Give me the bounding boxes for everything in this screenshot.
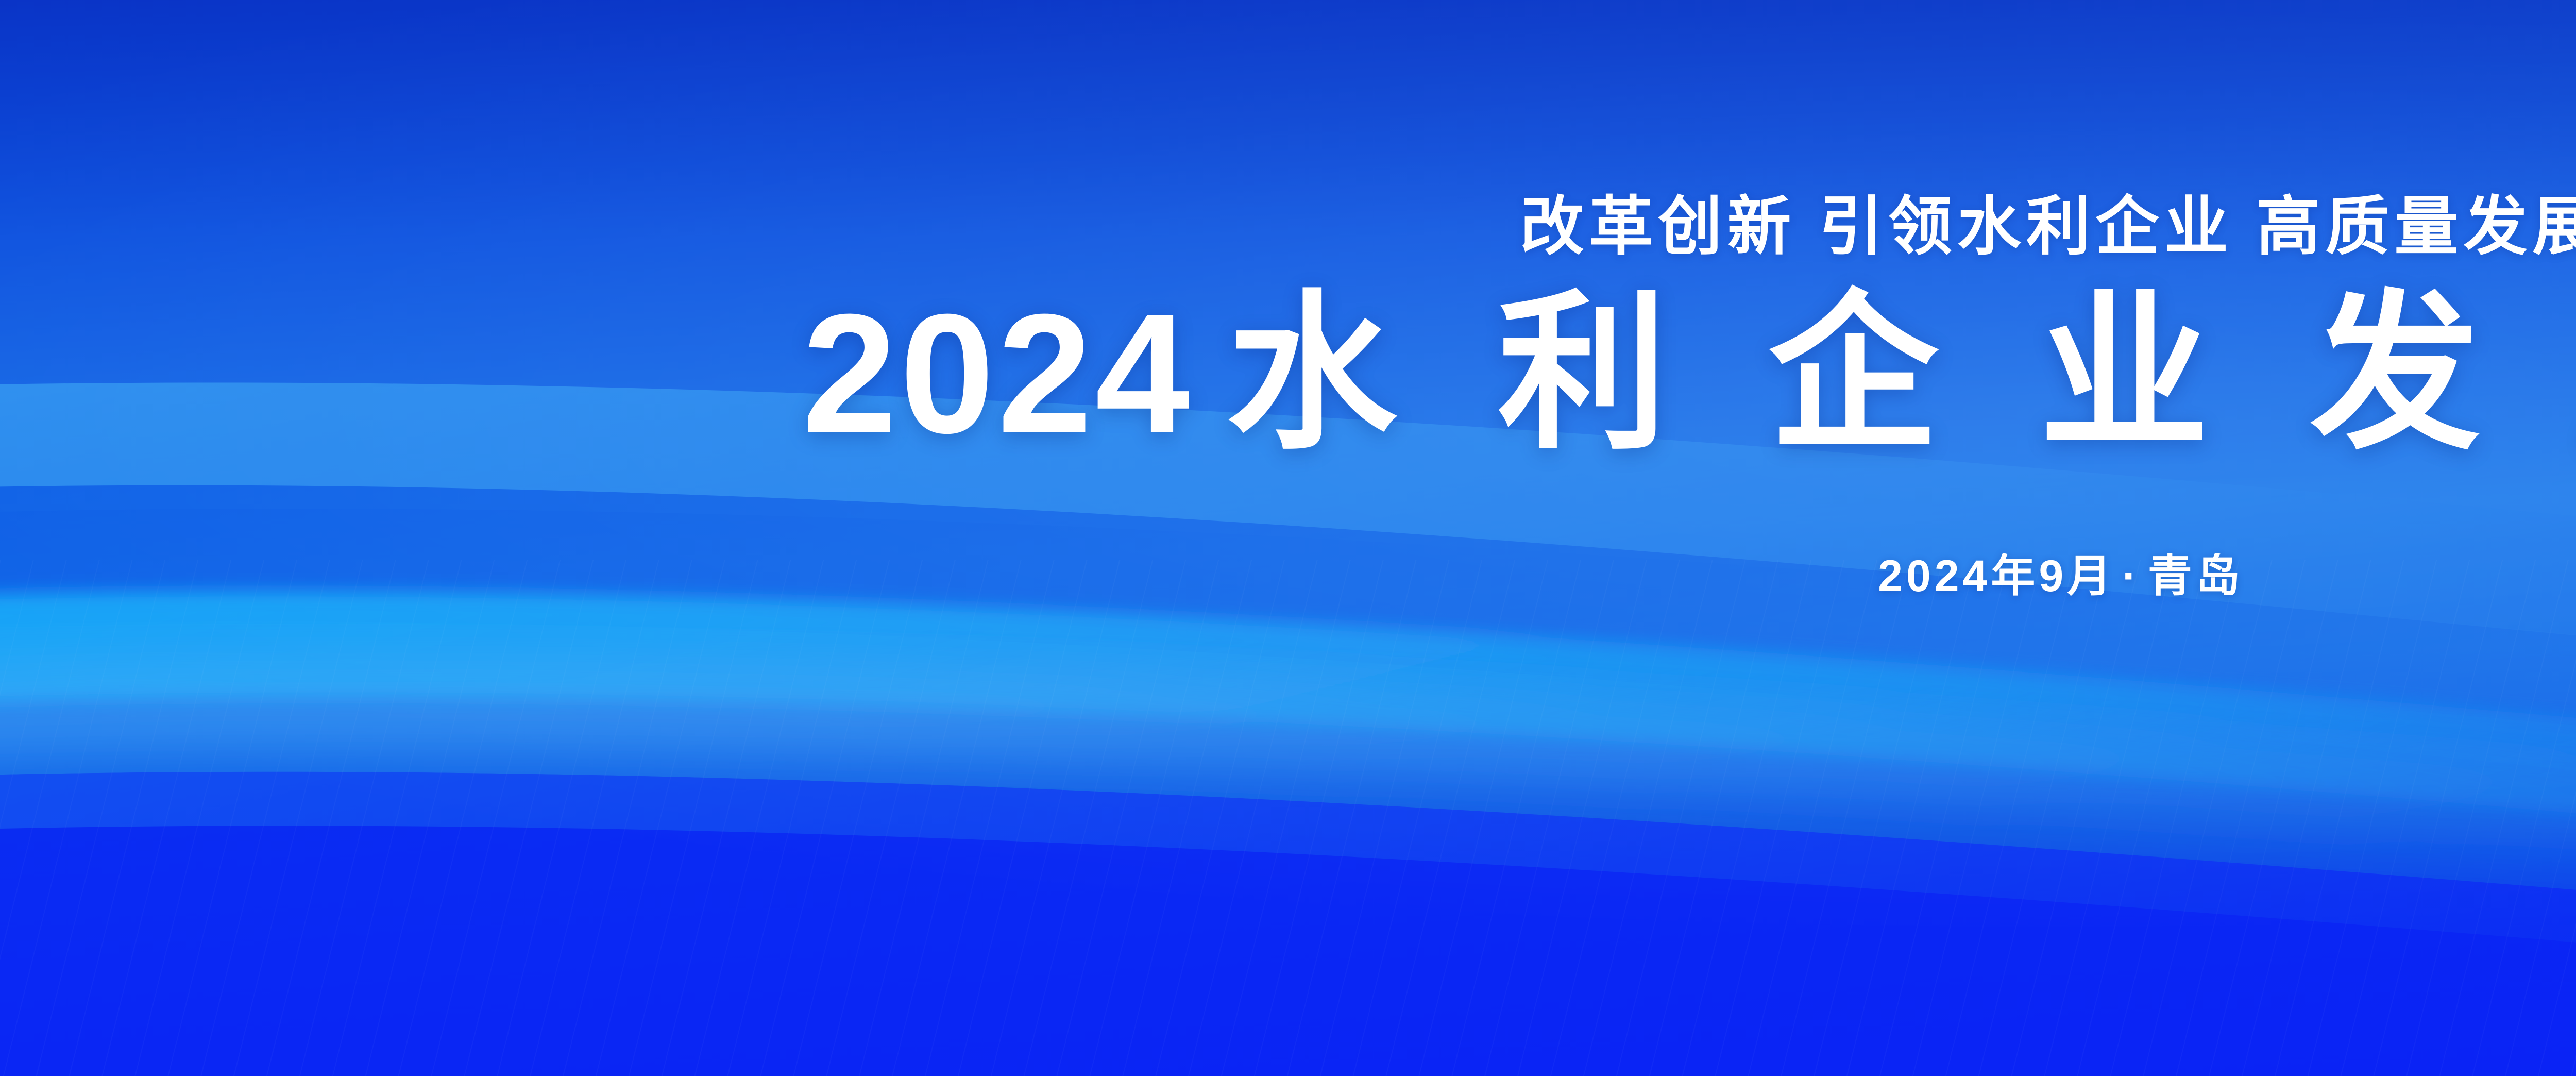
date-location-separator: · — [2115, 551, 2148, 601]
banner-main-title: 2024水 利 企 业 发 展 论 坛 — [802, 289, 2576, 459]
event-location: 青岛 — [2148, 551, 2244, 601]
main-title-chinese: 水 利 企 业 发 展 论 坛 — [1227, 278, 2576, 468]
conference-banner: 改革创新 引领水利企业 高质量发展 2024水 利 企 业 发 展 论 坛 20… — [0, 0, 2576, 1076]
main-title-year: 2024 — [802, 278, 1227, 468]
event-date: 2024年9月 — [1878, 551, 2115, 601]
banner-date-location: 2024年9月·青岛 — [1878, 554, 2244, 598]
banner-content: 改革创新 引领水利企业 高质量发展 2024水 利 企 业 发 展 论 坛 20… — [0, 0, 2576, 1076]
banner-subtitle: 改革创新 引领水利企业 高质量发展 — [1520, 195, 2576, 259]
